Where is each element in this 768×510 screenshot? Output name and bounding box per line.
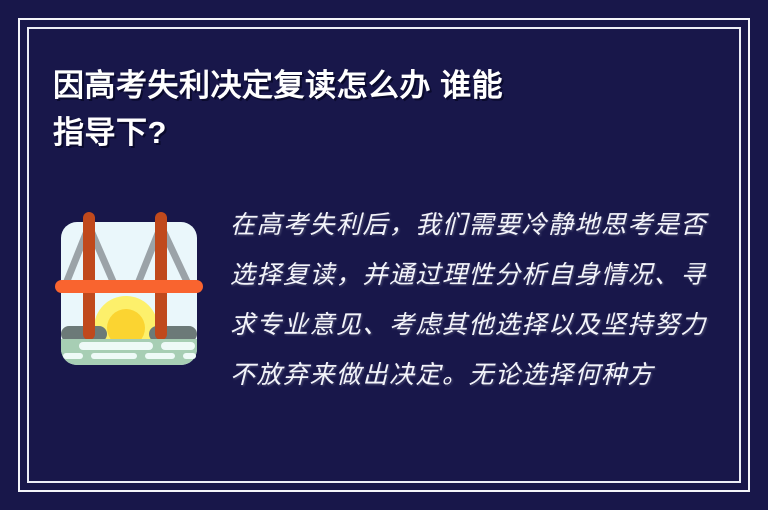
article-card: 因高考失利决定复读怎么办 谁能 指导下?: [0, 0, 768, 510]
article-body: 在高考失利后，我们需要冷静地思考是否选择复读，并通过理性分析自身情况、寻求专业意…: [230, 200, 722, 400]
content-row: 在高考失利后，我们需要冷静地思考是否选择复读，并通过理性分析自身情况、寻求专业意…: [53, 200, 722, 400]
page-title: 因高考失利决定复读怎么办 谁能 指导下?: [53, 62, 693, 156]
bridge-sunset-icon: [53, 208, 205, 365]
title-line-1: 因高考失利决定复读怎么办 谁能: [53, 62, 693, 109]
title-line-2: 指导下?: [53, 109, 693, 156]
